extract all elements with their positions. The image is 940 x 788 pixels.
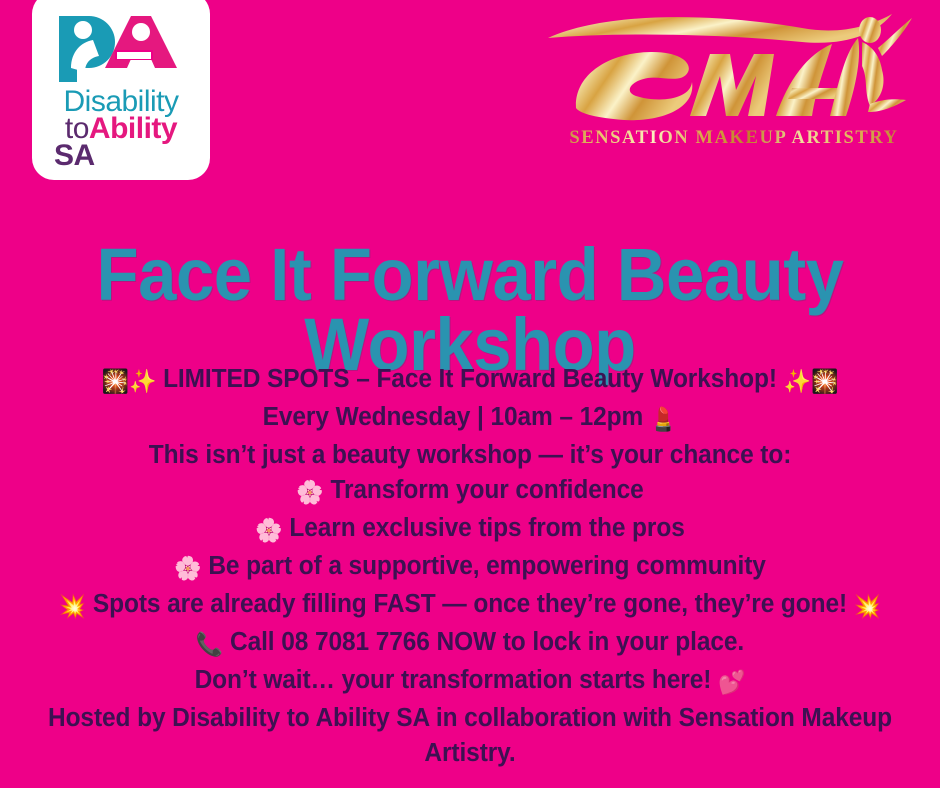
body-line-urgency: 💥 Spots are already filling FAST — once …	[30, 587, 909, 625]
telephone-receiver-icon: 📞	[196, 632, 223, 658]
event-flyer: Disability toAbility SA	[0, 0, 940, 788]
body-line-schedule-text: Every Wednesday | 10am – 12pm	[263, 403, 644, 431]
collision-icon: 💥	[59, 594, 86, 620]
body-bullet-community: 🌸 Be part of a supportive, empowering co…	[30, 549, 909, 587]
body-line-hosted-by: Hosted by Disability to Ability SA in co…	[30, 701, 909, 771]
cherry-blossom-icon: 🌸	[255, 518, 282, 544]
body-line-limited-spots-text: LIMITED SPOTS – Face It Forward Beauty W…	[163, 365, 777, 393]
lipstick-icon: 💄	[650, 407, 677, 433]
cherry-blossom-icon: 🌸	[174, 556, 201, 582]
body-line-urgency-text: Spots are already filling FAST — once th…	[93, 590, 847, 618]
body-line-closing-text: Don’t wait… your transformation starts h…	[195, 666, 712, 694]
flyer-body-copy: 🎇✨ LIMITED SPOTS – Face It Forward Beaut…	[12, 362, 928, 771]
body-bullet-community-text: Be part of a supportive, empowering comm…	[208, 552, 765, 580]
sensation-makeup-artistry-logo: SENSATION MAKEUP ARTISTRY	[540, 4, 920, 156]
body-line-schedule: Every Wednesday | 10am – 12pm 💄	[30, 400, 909, 438]
dta-logo-ability: Ability	[89, 112, 177, 145]
body-bullet-tips: 🌸 Learn exclusive tips from the pros	[30, 511, 909, 549]
body-bullet-confidence-text: Transform your confidence	[330, 476, 643, 504]
sparkler-sparkles-icon: 🎇✨	[102, 369, 157, 395]
page-title: Face It Forward Beauty Workshop	[89, 240, 852, 381]
body-line-phone-text[interactable]: Call 08 7081 7766 NOW to lock in your pl…	[230, 628, 744, 656]
dta-logo-line-sa: SA	[54, 141, 95, 170]
body-bullet-confidence: 🌸 Transform your confidence	[30, 473, 909, 511]
cherry-blossom-icon: 🌸	[296, 480, 323, 506]
body-line-closing: Don’t wait… your transformation starts h…	[30, 663, 909, 701]
sparkles-sparkler-icon: ✨🎇	[784, 369, 839, 395]
two-hearts-icon: 💕	[718, 670, 745, 696]
body-line-intro: This isn’t just a beauty workshop — it’s…	[30, 438, 909, 473]
dta-monogram-icon	[53, 10, 189, 84]
disability-to-ability-sa-logo: Disability toAbility SA	[32, 0, 210, 180]
collision-icon: 💥	[854, 594, 881, 620]
body-line-phone[interactable]: 📞 Call 08 7081 7766 NOW to lock in your …	[30, 625, 909, 663]
body-bullet-tips-text: Learn exclusive tips from the pros	[289, 514, 684, 542]
sma-tagline: SENSATION MAKEUP ARTISTRY	[550, 128, 918, 149]
sma-monogram-icon	[540, 4, 920, 132]
body-line-limited-spots: 🎇✨ LIMITED SPOTS – Face It Forward Beaut…	[30, 362, 909, 400]
